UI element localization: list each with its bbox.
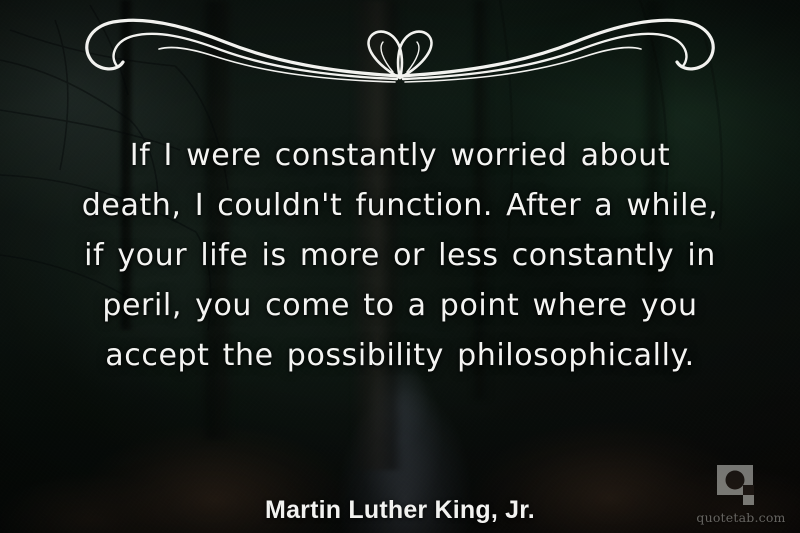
quote-image-card: If I were constantly worried about death… <box>0 0 800 533</box>
quotetab-q-logo-icon <box>715 463 767 509</box>
quote-line: peril, you come to a point where you <box>26 281 774 331</box>
quote-line: If I were constantly worried about <box>26 131 774 181</box>
quote-author: Martin Luther King, Jr. <box>0 496 800 525</box>
watermark[interactable]: quotetab.com <box>696 463 786 525</box>
quote-line: death, I couldn't function. After a whil… <box>26 181 774 231</box>
decorative-flourish-ornament <box>75 16 725 88</box>
quote-line: accept the possibility philosophically. <box>26 331 774 381</box>
quote-text: If I were constantly worried about death… <box>0 131 800 381</box>
quote-line: if your life is more or less constantly … <box>26 231 774 281</box>
watermark-site-label: quotetab.com <box>696 510 786 525</box>
